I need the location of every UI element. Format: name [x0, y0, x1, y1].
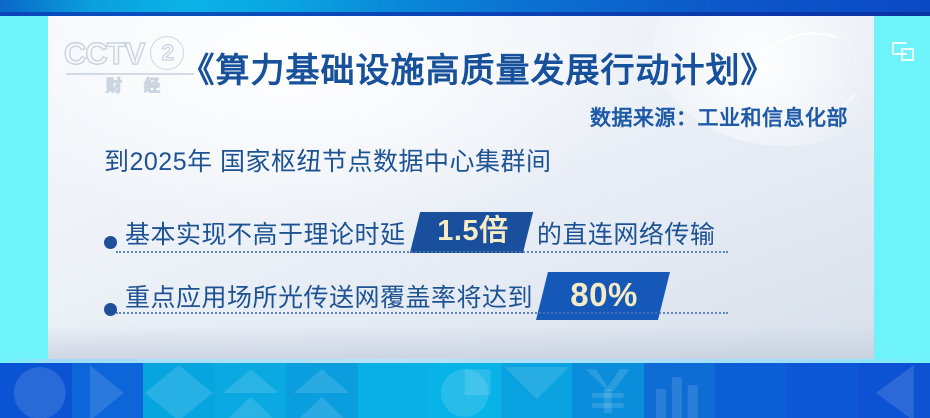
lead-statement: 到2025年 国家枢纽节点数据中心集群间	[104, 142, 552, 178]
circle-icon	[0, 363, 72, 418]
right-cyan-rail	[874, 16, 930, 359]
blank-icon	[358, 363, 430, 418]
top-decorative-band	[0, 0, 930, 16]
yuan-currency-icon	[572, 363, 644, 418]
bullet-dot-icon	[104, 236, 117, 249]
bar-chart-icon	[644, 363, 716, 418]
bullet-1-prefix: 基本实现不高于理论时延	[125, 215, 406, 251]
bullet-1-highlight-badge: 1.5倍	[409, 212, 533, 253]
main-content-panel: CCTV 2 财 经 《算力基础设施高质量发展行动计划》 数据来源：工业和信息化…	[48, 16, 874, 359]
bullet-1-suffix: 的直连网络传输	[537, 215, 716, 251]
blank-icon	[715, 363, 787, 418]
bullet-2-underline	[116, 312, 728, 314]
triangle-up-icon	[286, 363, 358, 418]
bullet-2-highlight-value: 80%	[570, 276, 638, 314]
bullet-item-1: 基本实现不高于理论时延 1.5倍 的直连网络传输	[104, 212, 715, 253]
bottom-pattern-band	[0, 359, 930, 418]
pie-chart-icon	[429, 363, 501, 418]
left-cyan-rail	[0, 16, 48, 359]
data-source-label: 数据来源：工业和信息化部	[590, 102, 848, 132]
bullet-1-highlight-value: 1.5倍	[437, 215, 508, 248]
envelope-icon	[501, 363, 573, 418]
triangle-up-icon	[215, 363, 287, 418]
blank-icon	[787, 363, 859, 418]
play-triangle-icon	[72, 363, 144, 418]
page-title: 《算力基础设施高质量发展行动计划》	[48, 43, 874, 92]
cctv-corner-logo-icon	[892, 40, 916, 64]
broadcast-graphic-stage: CCTV 2 财 经 《算力基础设施高质量发展行动计划》 数据来源：工业和信息化…	[0, 0, 930, 418]
chevron-left-icon	[858, 363, 930, 418]
bullet-1-underline	[116, 251, 728, 253]
bullet-2-prefix: 重点应用场所光传送网覆盖率将达到	[125, 278, 533, 314]
diamond-icon	[143, 363, 215, 418]
